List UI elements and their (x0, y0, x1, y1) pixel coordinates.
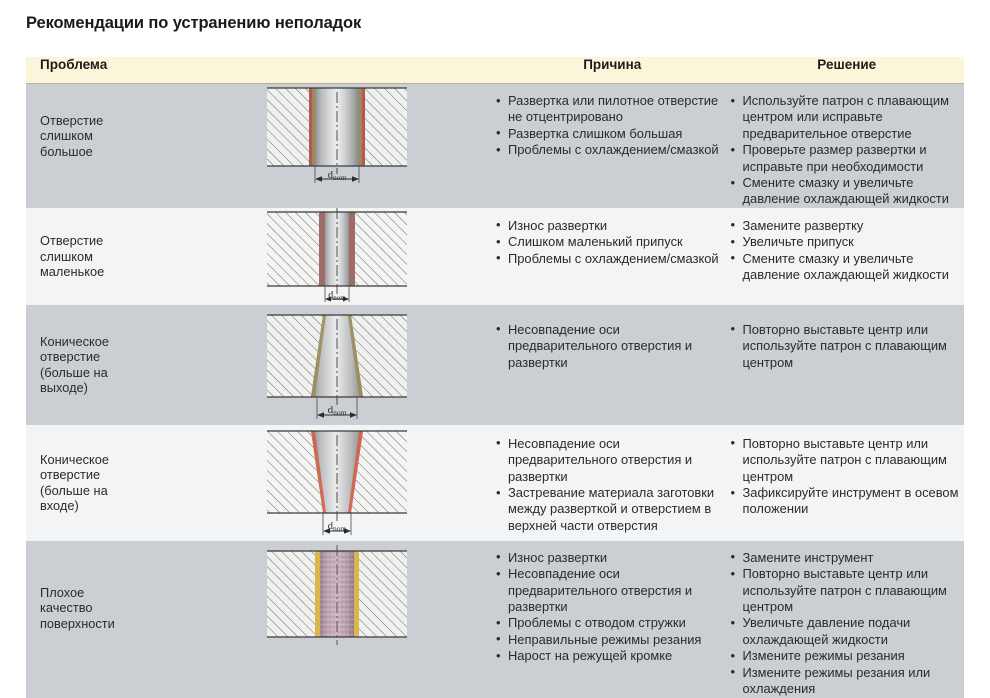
diagram-cell-hole-too-small: dnom (261, 208, 496, 305)
diagram-cell-poor-surface (261, 541, 496, 698)
reamed-hole-diagram: dnom (261, 84, 496, 188)
problem-label-cell: Коническое отверстие (больше на выходе) (26, 305, 261, 425)
page-title: Рекомендации по устранению неполадок (26, 14, 361, 33)
list-item: Измените режимы резания или охлаждения (730, 665, 965, 698)
table-row: Коническое отверстие (больше на выходе) (26, 305, 964, 425)
cause-list: Развертка или пилотное отверстие не отце… (495, 84, 730, 159)
cause-cell: Развертка или пилотное отверстие не отце… (495, 84, 730, 208)
table-row: Отверстие слишком большое (26, 84, 964, 208)
problem-label-cell: Отверстие слишком маленькое (26, 208, 261, 305)
problem-line: маленькое (40, 264, 104, 280)
problem-label-cell: Плохое качество поверхности (26, 541, 261, 698)
list-item: Измените режимы резания (730, 648, 965, 664)
list-item: Проблемы с охлаждением/смазкой (495, 142, 730, 158)
list-item: Повторно выставьте центр или используйте… (730, 436, 965, 485)
problem-line: поверхности (40, 616, 115, 632)
list-item: Износ развертки (495, 550, 730, 566)
list-item: Развертка или пилотное отверстие не отце… (495, 93, 730, 126)
diagram-cell-taper-wide-entry: dnom (261, 425, 496, 541)
problem-line: Коническое (40, 452, 109, 468)
solution-cell: Используйте патрон с плавающим центром и… (730, 84, 965, 208)
solution-cell: Повторно выставьте центр или используйте… (730, 305, 965, 425)
problem-label-cell: Коническое отверстие (больше на входе) (26, 425, 261, 541)
table-row: Отверстие слишком маленькое (26, 208, 964, 305)
reamed-hole-diagram (261, 541, 496, 675)
svg-text:dnom: dnom (327, 521, 346, 533)
list-item: Слишком маленький припуск (495, 234, 730, 250)
problem-line: слишком (40, 249, 104, 265)
solution-list: Используйте патрон с плавающим центром и… (730, 84, 965, 208)
list-item: Несовпадение оси предварительного отверс… (495, 566, 730, 615)
reamed-hole-diagram: dnom (261, 425, 496, 541)
list-item: Проблемы с отводом стружки (495, 615, 730, 631)
diagram-cell-hole-too-large: dnom (261, 84, 496, 208)
list-item: Несовпадение оси предварительного отверс… (495, 436, 730, 485)
solution-list: Замените развертку Увеличьте припуск Сме… (730, 208, 965, 284)
problem-line: слишком (40, 128, 103, 144)
cause-list: Несовпадение оси предварительного отверс… (495, 425, 730, 534)
column-header-solution: Решение (730, 57, 965, 84)
problem-line: Отверстие (40, 113, 103, 129)
list-item: Повторно выставьте центр или используйте… (730, 322, 965, 371)
diagram-cell-taper-wide-exit: dnom (261, 305, 496, 425)
solution-cell: Замените инструмент Повторно выставьте ц… (730, 541, 965, 698)
list-item: Смените смазку и увеличьте давление охла… (730, 175, 965, 208)
list-item: Неправильные режимы резания (495, 632, 730, 648)
cause-list: Износ развертки Несовпадение оси предвар… (495, 541, 730, 665)
cause-list: Несовпадение оси предварительного отверс… (495, 305, 730, 371)
cause-cell: Несовпадение оси предварительного отверс… (495, 425, 730, 541)
table-row: Плохое качество поверхности (26, 541, 964, 698)
list-item: Нарост на режущей кромке (495, 648, 730, 664)
solution-list: Повторно выставьте центр или используйте… (730, 305, 965, 371)
list-item: Проблемы с охлаждением/смазкой (495, 251, 730, 267)
list-item: Замените развертку (730, 218, 965, 234)
solution-cell: Повторно выставьте центр или используйте… (730, 425, 965, 541)
list-item: Увеличьте припуск (730, 234, 965, 250)
cause-list: Износ развертки Слишком маленький припус… (495, 208, 730, 267)
reamed-hole-diagram: dnom (261, 305, 496, 425)
list-item: Смените смазку и увеличьте давление охла… (730, 251, 965, 284)
problem-label-cell: Отверстие слишком большое (26, 84, 261, 208)
list-item: Зафиксируйте инструмент в осевом положен… (730, 485, 965, 518)
list-item: Износ развертки (495, 218, 730, 234)
table-body: Отверстие слишком большое (26, 84, 964, 698)
column-header-problem: Проблема (26, 57, 495, 84)
solution-cell: Замените развертку Увеличьте припуск Сме… (730, 208, 965, 305)
problem-line: Отверстие (40, 233, 104, 249)
problem-line: отверстие (40, 467, 109, 483)
list-item: Застревание материала заготовки между ра… (495, 485, 730, 534)
troubleshooting-table: Проблема Причина Решение Отверстие слишк… (26, 57, 964, 698)
list-item: Развертка слишком большая (495, 126, 730, 142)
problem-line: (больше на (40, 483, 109, 499)
solution-list: Повторно выставьте центр или используйте… (730, 425, 965, 518)
problem-line: Плохое (40, 585, 115, 601)
reamed-hole-diagram: dnom (261, 208, 496, 305)
cause-cell: Несовпадение оси предварительного отверс… (495, 305, 730, 425)
table-row: Коническое отверстие (больше на входе) (26, 425, 964, 541)
column-header-cause: Причина (495, 57, 730, 84)
problem-line: качество (40, 600, 115, 616)
list-item: Проверьте размер развертки и исправьте п… (730, 142, 965, 175)
problem-line: отверстие (40, 349, 109, 365)
list-item: Повторно выставьте центр или используйте… (730, 566, 965, 615)
cause-cell: Износ развертки Слишком маленький припус… (495, 208, 730, 305)
list-item: Несовпадение оси предварительного отверс… (495, 322, 730, 371)
problem-line: (больше на (40, 365, 109, 381)
table-header-row: Проблема Причина Решение (26, 57, 964, 84)
problem-line: большое (40, 144, 103, 160)
problem-line: Коническое (40, 334, 109, 350)
svg-text:dnom: dnom (327, 404, 346, 417)
list-item: Увеличьте давление подачи охлаждающей жи… (730, 615, 965, 648)
solution-list: Замените инструмент Повторно выставьте ц… (730, 541, 965, 698)
list-item: Замените инструмент (730, 550, 965, 566)
problem-line: входе) (40, 498, 109, 514)
cause-cell: Износ развертки Несовпадение оси предвар… (495, 541, 730, 698)
list-item: Используйте патрон с плавающим центром и… (730, 93, 965, 142)
problem-line: выходе) (40, 380, 109, 396)
